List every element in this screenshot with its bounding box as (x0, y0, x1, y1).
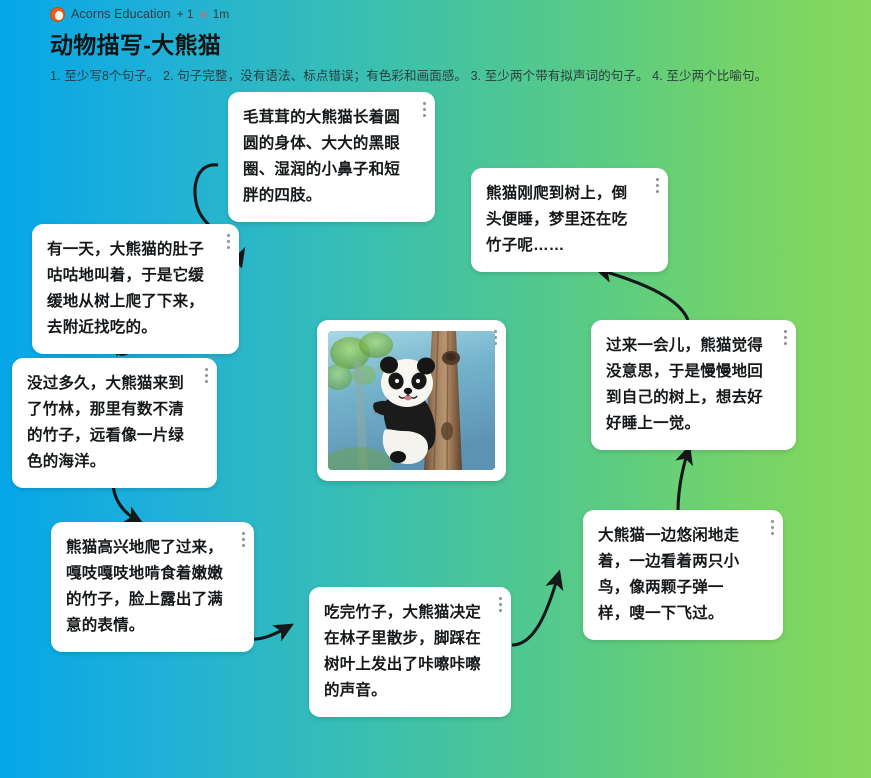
card-text: 有一天，大熊猫的肚子咕咕地叫着，于是它缓缓地从树上爬了下来，去附近找吃的。 (32, 224, 239, 354)
kebab-menu-icon[interactable] (770, 520, 774, 535)
byline: Acorns Education + 1 1m (50, 5, 871, 23)
acorn-avatar-icon (50, 7, 65, 22)
card-walking-leaves[interactable]: 吃完竹子，大熊猫决定在林子里散步，脚踩在树叶上发出了咔嚓咔嚓的声音。 (309, 587, 511, 717)
kebab-menu-icon[interactable] (422, 102, 426, 117)
card-fur-description[interactable]: 毛茸茸的大熊猫长着圆圆的身体、大大的黑眼圈、湿润的小鼻子和短胖的四肢。 (228, 92, 435, 222)
card-text: 没过多久，大熊猫来到了竹林，那里有数不清的竹子，远看像一片绿色的海洋。 (12, 358, 217, 488)
card-back-to-tree[interactable]: 过来一会儿，熊猫觉得没意思，于是慢慢地回到自己的树上，想去好好睡上一觉。 (591, 320, 796, 450)
card-text: 过来一会儿，熊猫觉得没意思，于是慢慢地回到自己的树上，想去好好睡上一觉。 (591, 320, 796, 450)
card-text: 大熊猫一边悠闲地走着，一边看着两只小鸟，像两颗子弹一样，嗖一下飞过。 (583, 510, 783, 640)
timestamp: 1m (213, 7, 230, 21)
kebab-menu-icon[interactable] (498, 597, 502, 612)
kebab-menu-icon[interactable] (783, 330, 787, 345)
card-eating-bamboo[interactable]: 熊猫高兴地爬了过来，嘎吱嘎吱地啃食着嫩嫩的竹子，脸上露出了满意的表情。 (51, 522, 254, 652)
card-sleeping-dream[interactable]: 熊猫刚爬到树上，倒头便睡，梦里还在吃竹子呢…… (471, 168, 668, 272)
card-panda-photo[interactable] (317, 320, 506, 481)
kebab-menu-icon[interactable] (226, 234, 230, 249)
kebab-menu-icon[interactable] (655, 178, 659, 193)
card-bamboo-forest[interactable]: 没过多久，大熊猫来到了竹林，那里有数不清的竹子，远看像一片绿色的海洋。 (12, 358, 217, 488)
mindmap-canvas: Acorns Education + 1 1m 动物描写-大熊猫 1. 至少写8… (0, 0, 871, 778)
panda-photo (328, 331, 495, 470)
collaborator-count: + 1 (177, 7, 194, 21)
kebab-menu-icon[interactable] (241, 532, 245, 547)
card-birds-bullets[interactable]: 大熊猫一边悠闲地走着，一边看着两只小鸟，像两颗子弹一样，嗖一下飞过。 (583, 510, 783, 640)
card-hungry-belly[interactable]: 有一天，大熊猫的肚子咕咕地叫着，于是它缓缓地从树上爬了下来，去附近找吃的。 (32, 224, 239, 354)
card-text: 毛茸茸的大熊猫长着圆圆的身体、大大的黑眼圈、湿润的小鼻子和短胖的四肢。 (228, 92, 435, 222)
page-header: Acorns Education + 1 1m 动物描写-大熊猫 1. 至少写8… (0, 0, 871, 84)
page-title: 动物描写-大熊猫 (50, 26, 871, 60)
page-subtitle: 1. 至少写8个句子。 2. 句子完整，没有语法、标点错误；有色彩和画面感。 3… (50, 65, 871, 84)
card-text: 吃完竹子，大熊猫决定在林子里散步，脚踩在树叶上发出了咔嚓咔嚓的声音。 (309, 587, 511, 717)
card-text: 熊猫刚爬到树上，倒头便睡，梦里还在吃竹子呢…… (471, 168, 668, 272)
status-dot-icon (200, 11, 207, 18)
card-text: 熊猫高兴地爬了过来，嘎吱嘎吱地啃食着嫩嫩的竹子，脸上露出了满意的表情。 (51, 522, 254, 652)
kebab-menu-icon[interactable] (204, 368, 208, 383)
author-name: Acorns Education (71, 7, 171, 21)
